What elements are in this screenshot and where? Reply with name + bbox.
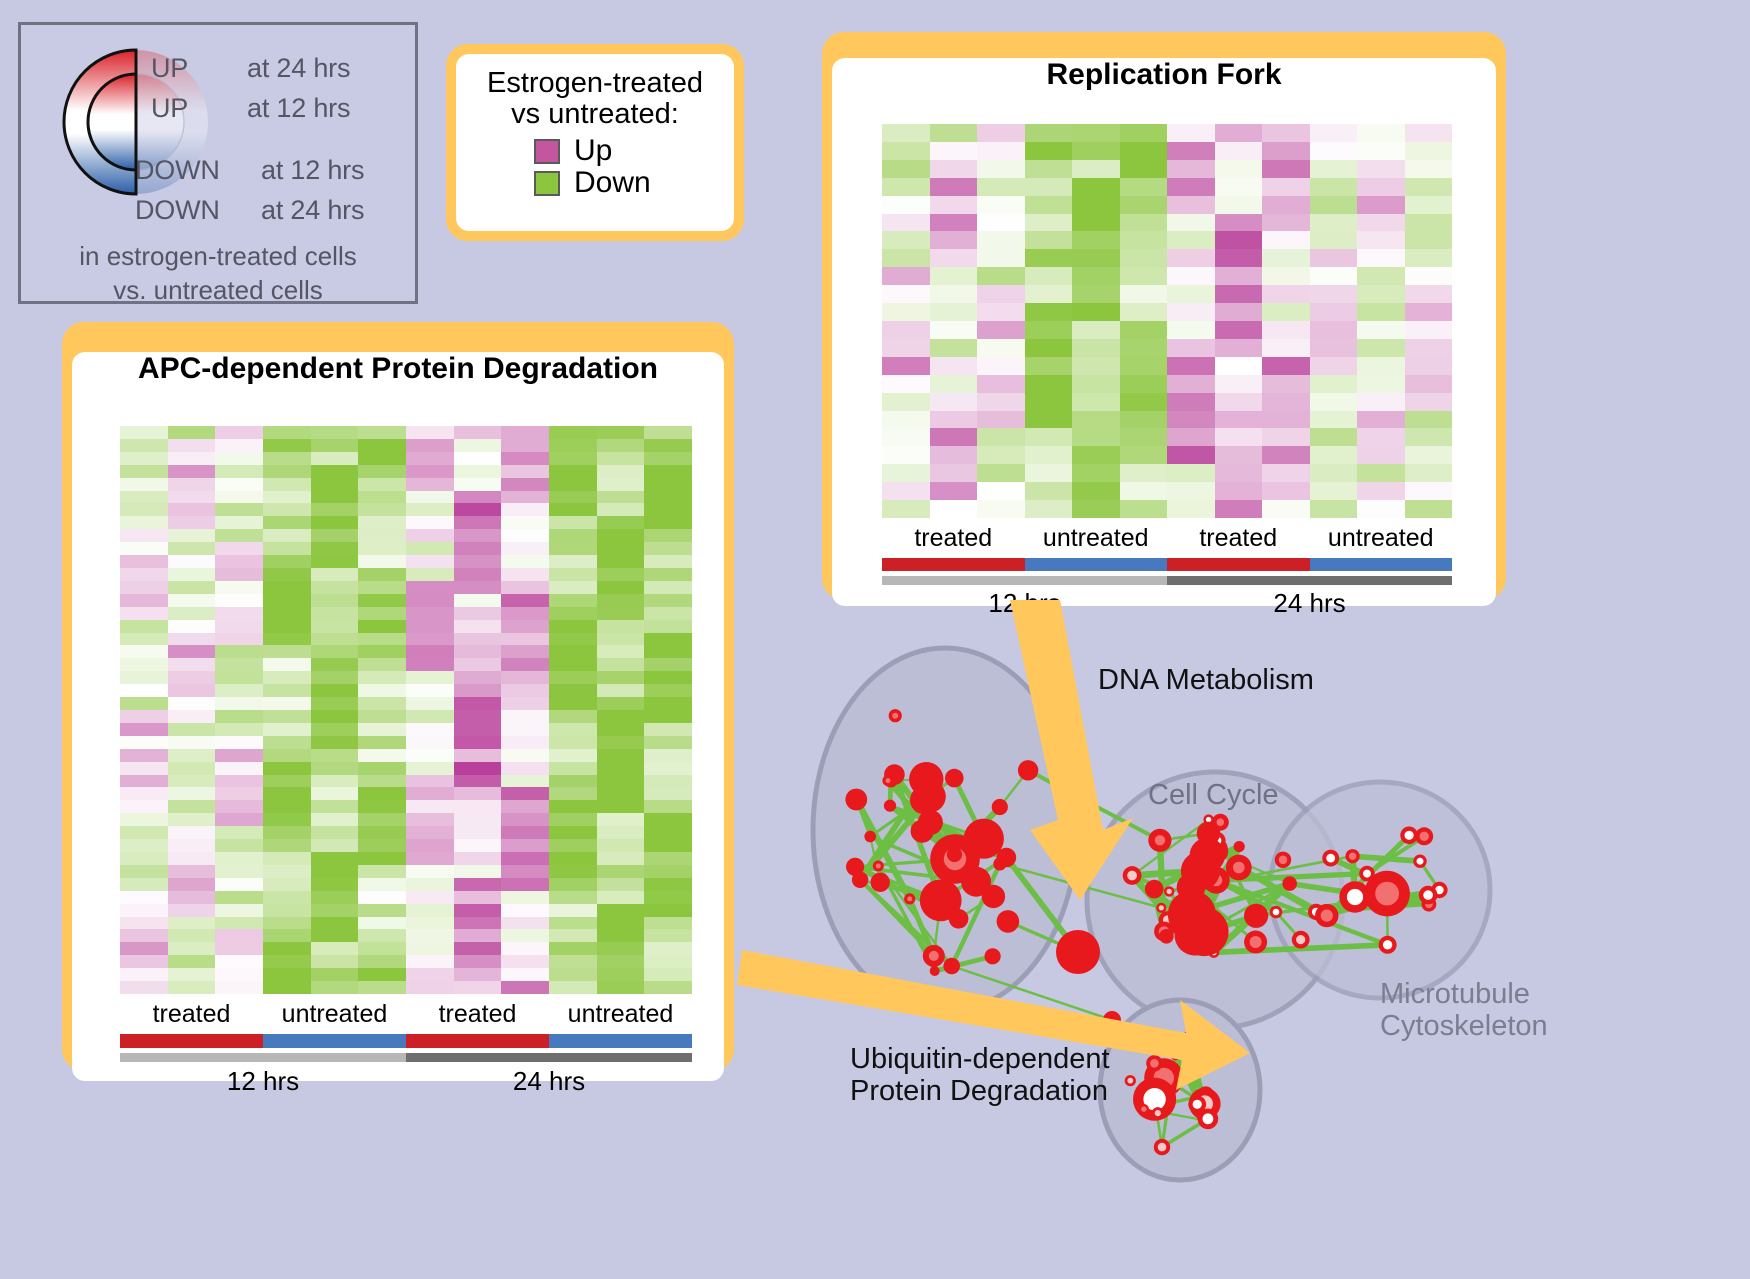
heat-cell	[549, 645, 597, 658]
heat-cell	[263, 775, 311, 788]
heat-cell	[549, 865, 597, 878]
heat-cell	[644, 775, 692, 788]
ub-line1: Ubiquitin-dependent	[850, 1043, 1110, 1075]
heat-cell	[311, 671, 359, 684]
key-row-2-time: at 12 hrs	[261, 155, 364, 186]
heat-cell	[263, 710, 311, 723]
heat-cell	[263, 968, 311, 981]
heat-cell	[930, 411, 978, 429]
heat-cell	[644, 542, 692, 555]
heat-cell	[549, 723, 597, 736]
heat-cell	[215, 439, 263, 452]
heat-cell	[406, 955, 454, 968]
heat-cell	[406, 904, 454, 917]
heat-cell	[644, 968, 692, 981]
heat-cell	[501, 607, 549, 620]
heat-cell	[120, 955, 168, 968]
heat-cell	[501, 723, 549, 736]
heat-cell	[406, 736, 454, 749]
heat-cell	[263, 684, 311, 697]
heat-cell	[1262, 464, 1310, 482]
heat-cell	[597, 542, 645, 555]
heat-cell	[1025, 267, 1073, 285]
heat-cell	[644, 852, 692, 865]
heat-cell	[406, 503, 454, 516]
heat-cell	[406, 555, 454, 568]
heat-cell	[454, 775, 502, 788]
heat-cell	[168, 826, 216, 839]
heat-cell	[311, 439, 359, 452]
heat-cell	[120, 633, 168, 646]
heat-cell	[644, 684, 692, 697]
heat-cell	[549, 516, 597, 529]
heat-cell	[1072, 249, 1120, 267]
heat-cell	[215, 917, 263, 930]
heat-cell	[501, 904, 549, 917]
heat-cell	[215, 826, 263, 839]
heat-cell	[1357, 142, 1405, 160]
heat-cell	[311, 491, 359, 504]
apc-col-0: treated	[120, 1000, 263, 1029]
heat-cell	[358, 800, 406, 813]
heat-cell	[1310, 178, 1358, 196]
heat-cell	[406, 568, 454, 581]
heat-cell	[597, 852, 645, 865]
apc-timebar-12	[120, 1053, 406, 1062]
heat-cell	[597, 800, 645, 813]
heat-cell	[1215, 428, 1263, 446]
heat-cell	[1405, 321, 1453, 339]
heat-cell	[168, 645, 216, 658]
apc-title: APC-dependent Protein Degradation	[72, 352, 724, 386]
heat-cell	[358, 865, 406, 878]
heat-cell	[263, 878, 311, 891]
heat-cell	[1025, 464, 1073, 482]
legend-title-line1: Estrogen-treated	[456, 68, 734, 99]
rf-column-labels: treated untreated treated untreated	[882, 524, 1452, 553]
key-row-0-value: UP	[151, 53, 188, 84]
heat-cell	[311, 775, 359, 788]
heat-cell	[644, 658, 692, 671]
heat-cell	[215, 658, 263, 671]
heat-cell	[549, 800, 597, 813]
heat-cell	[263, 516, 311, 529]
heat-cell	[977, 393, 1025, 411]
heat-cell	[1167, 375, 1215, 393]
heat-cell	[215, 503, 263, 516]
heat-cell	[1072, 285, 1120, 303]
heat-cell	[215, 426, 263, 439]
heat-cell	[1072, 196, 1120, 214]
heat-cell	[1120, 393, 1168, 411]
heat-cell	[358, 710, 406, 723]
heat-cell	[454, 968, 502, 981]
heat-cell	[1405, 231, 1453, 249]
heat-cell	[977, 375, 1025, 393]
mt-line2: Cytoskeleton	[1380, 1010, 1548, 1042]
heat-cell	[644, 426, 692, 439]
heat-cell	[501, 516, 549, 529]
heat-cell	[1357, 249, 1405, 267]
heat-cell	[597, 697, 645, 710]
heat-cell	[1167, 464, 1215, 482]
heat-cell	[168, 891, 216, 904]
key-row-3-value: DOWN	[135, 195, 220, 226]
apc-panel: APC-dependent Protein Degradation treate…	[62, 322, 734, 1071]
heat-cell	[263, 452, 311, 465]
heat-cell	[358, 568, 406, 581]
heat-cell	[644, 955, 692, 968]
heat-cell	[1167, 160, 1215, 178]
heat-cell	[1262, 393, 1310, 411]
heat-cell	[120, 762, 168, 775]
heat-cell	[358, 503, 406, 516]
heat-cell	[501, 555, 549, 568]
heat-cell	[549, 465, 597, 478]
heat-cell	[120, 439, 168, 452]
heat-cell	[882, 231, 930, 249]
rf-group-bar	[882, 558, 1452, 571]
heat-cell	[1072, 482, 1120, 500]
heat-cell	[120, 981, 168, 994]
heat-cell	[454, 568, 502, 581]
heat-cell	[549, 826, 597, 839]
heat-cell	[501, 633, 549, 646]
heat-cell	[930, 214, 978, 232]
heat-cell	[644, 516, 692, 529]
heat-cell	[1357, 375, 1405, 393]
heat-cell	[1215, 231, 1263, 249]
heat-cell	[1215, 285, 1263, 303]
heat-cell	[1310, 231, 1358, 249]
apc-bar-untreated-12	[263, 1034, 406, 1048]
heat-cell	[1072, 500, 1120, 518]
heat-cell	[263, 981, 311, 994]
heat-cell	[977, 303, 1025, 321]
heat-cell	[1215, 142, 1263, 160]
heat-cell	[311, 555, 359, 568]
heat-cell	[597, 929, 645, 942]
heat-cell	[406, 852, 454, 865]
heat-cell	[930, 196, 978, 214]
heat-cell	[215, 581, 263, 594]
heat-cell	[454, 955, 502, 968]
heat-cell	[1120, 196, 1168, 214]
heat-cell	[263, 852, 311, 865]
heat-cell	[1310, 285, 1358, 303]
heat-cell	[406, 620, 454, 633]
heat-cell	[168, 787, 216, 800]
heat-cell	[1025, 321, 1073, 339]
key-row-0-time: at 24 hrs	[247, 53, 350, 84]
heat-cell	[644, 633, 692, 646]
heat-cell	[215, 813, 263, 826]
heat-cell	[549, 581, 597, 594]
heat-cell	[406, 981, 454, 994]
heat-cell	[1310, 393, 1358, 411]
heat-cell	[120, 826, 168, 839]
cluster-label-dna-metabolism: DNA Metabolism	[1098, 664, 1314, 696]
heat-cell	[1405, 411, 1453, 429]
heat-cell	[1025, 142, 1073, 160]
heat-cell	[454, 439, 502, 452]
heat-cell	[454, 904, 502, 917]
heat-cell	[311, 942, 359, 955]
heat-cell	[406, 929, 454, 942]
heat-cell	[358, 555, 406, 568]
heat-cell	[882, 196, 930, 214]
heat-cell	[1215, 303, 1263, 321]
heat-cell	[1167, 303, 1215, 321]
heat-cell	[597, 917, 645, 930]
heat-cell	[597, 749, 645, 762]
heat-cell	[977, 231, 1025, 249]
heat-cell	[120, 620, 168, 633]
apc-heatmap	[120, 426, 692, 994]
heat-cell	[644, 697, 692, 710]
heat-cell	[1357, 160, 1405, 178]
heat-cell	[501, 865, 549, 878]
heat-cell	[501, 491, 549, 504]
heat-cell	[215, 516, 263, 529]
heat-cell	[501, 439, 549, 452]
heat-cell	[549, 478, 597, 491]
heat-cell	[930, 178, 978, 196]
heat-cell	[549, 529, 597, 542]
heat-cell	[1167, 500, 1215, 518]
heat-cell	[454, 749, 502, 762]
heat-cell	[1167, 357, 1215, 375]
heat-cell	[1262, 321, 1310, 339]
heat-cell	[358, 981, 406, 994]
heat-cell	[454, 503, 502, 516]
heat-cell	[1405, 178, 1453, 196]
heat-cell	[263, 865, 311, 878]
heat-cell	[977, 428, 1025, 446]
heat-cell	[454, 671, 502, 684]
heat-cell	[597, 787, 645, 800]
heat-cell	[215, 607, 263, 620]
heat-cell	[263, 633, 311, 646]
heat-cell	[120, 555, 168, 568]
heat-cell	[1357, 393, 1405, 411]
heat-cell	[406, 529, 454, 542]
heat-cell	[120, 684, 168, 697]
heat-cell	[1357, 196, 1405, 214]
heat-cell	[501, 568, 549, 581]
heat-cell	[549, 426, 597, 439]
heat-cell	[1167, 196, 1215, 214]
heat-cell	[1120, 285, 1168, 303]
heat-cell	[311, 929, 359, 942]
heat-cell	[168, 839, 216, 852]
heat-cell	[168, 710, 216, 723]
heat-cell	[406, 607, 454, 620]
heat-cell	[1167, 249, 1215, 267]
heat-cell	[454, 697, 502, 710]
heat-cell	[311, 865, 359, 878]
heat-cell	[977, 214, 1025, 232]
heat-cell	[358, 942, 406, 955]
heat-cell	[1310, 142, 1358, 160]
heat-cell	[1262, 303, 1310, 321]
heat-cell	[501, 452, 549, 465]
heat-cell	[644, 439, 692, 452]
heat-cell	[597, 594, 645, 607]
heat-cell	[1310, 124, 1358, 142]
heat-cell	[120, 813, 168, 826]
heat-cell	[215, 775, 263, 788]
heat-cell	[168, 452, 216, 465]
heat-cell	[358, 542, 406, 555]
heat-cell	[406, 723, 454, 736]
heat-cell	[168, 542, 216, 555]
rf-timebar-24	[1167, 576, 1452, 585]
heat-cell	[977, 196, 1025, 214]
heat-cell	[311, 813, 359, 826]
heat-cell	[882, 160, 930, 178]
up-swatch-icon	[534, 139, 560, 164]
heat-cell	[454, 633, 502, 646]
heat-cell	[311, 852, 359, 865]
heat-cell	[597, 865, 645, 878]
heat-cell	[406, 581, 454, 594]
down-swatch-icon	[534, 171, 560, 196]
heat-cell	[168, 478, 216, 491]
heat-cell	[168, 800, 216, 813]
heat-cell	[597, 736, 645, 749]
heat-cell	[644, 981, 692, 994]
heat-cell	[454, 710, 502, 723]
heat-cell	[358, 878, 406, 891]
heat-cell	[1167, 393, 1215, 411]
heat-cell	[1072, 124, 1120, 142]
heat-cell	[1310, 464, 1358, 482]
heat-cell	[406, 813, 454, 826]
heat-cell	[215, 633, 263, 646]
heat-cell	[311, 904, 359, 917]
heat-cell	[1262, 357, 1310, 375]
heat-cell	[263, 697, 311, 710]
heat-cell	[597, 516, 645, 529]
heat-cell	[549, 736, 597, 749]
heat-cell	[597, 942, 645, 955]
heat-cell	[597, 981, 645, 994]
heat-cell	[549, 684, 597, 697]
heat-cell	[1215, 411, 1263, 429]
heat-cell	[358, 762, 406, 775]
heat-cell	[1072, 393, 1120, 411]
heat-cell	[215, 568, 263, 581]
heat-cell	[168, 697, 216, 710]
heat-cell	[358, 516, 406, 529]
heat-cell	[549, 503, 597, 516]
heat-cell	[168, 904, 216, 917]
heat-cell	[1310, 214, 1358, 232]
heat-cell	[311, 697, 359, 710]
heat-cell	[311, 710, 359, 723]
heat-cell	[644, 491, 692, 504]
heat-cell	[406, 942, 454, 955]
heat-cell	[1167, 411, 1215, 429]
legend-item-up: Up	[534, 136, 734, 166]
heat-cell	[977, 357, 1025, 375]
heat-cell	[454, 787, 502, 800]
heat-cell	[1215, 482, 1263, 500]
heat-cell	[215, 671, 263, 684]
heat-cell	[263, 929, 311, 942]
heat-cell	[597, 878, 645, 891]
heat-cell	[263, 723, 311, 736]
heat-cell	[1262, 446, 1310, 464]
heat-cell	[1405, 500, 1453, 518]
heat-cell	[597, 968, 645, 981]
heat-cell	[1215, 267, 1263, 285]
heat-cell	[215, 981, 263, 994]
heat-cell	[215, 800, 263, 813]
heat-cell	[358, 607, 406, 620]
heat-cell	[1357, 285, 1405, 303]
heat-cell	[882, 214, 930, 232]
heat-cell	[215, 749, 263, 762]
heat-cell	[1025, 196, 1073, 214]
heat-cell	[120, 839, 168, 852]
heat-cell	[882, 303, 930, 321]
replication-fork-panel: Replication Fork treated untreated treat…	[822, 32, 1506, 600]
heat-cell	[358, 839, 406, 852]
heat-cell	[1025, 482, 1073, 500]
heat-cell	[882, 375, 930, 393]
heat-cell	[644, 529, 692, 542]
heat-cell	[977, 267, 1025, 285]
legend-up-label: Up	[574, 136, 612, 166]
heat-cell	[454, 800, 502, 813]
heat-cell	[501, 671, 549, 684]
pathway-network-diagram	[760, 600, 1560, 1260]
heat-cell	[406, 878, 454, 891]
heat-cell	[1310, 160, 1358, 178]
heat-cell	[1357, 500, 1405, 518]
heat-cell	[882, 321, 930, 339]
heat-cell	[215, 955, 263, 968]
heat-cell	[311, 581, 359, 594]
heat-cell	[454, 594, 502, 607]
heat-cell	[311, 478, 359, 491]
heat-cell	[1025, 214, 1073, 232]
apc-group-bar	[120, 1034, 692, 1048]
rf-timebar-12	[882, 576, 1167, 585]
heat-cell	[549, 762, 597, 775]
heat-cell	[644, 800, 692, 813]
heat-cell	[1357, 357, 1405, 375]
heat-cell	[882, 339, 930, 357]
heat-cell	[120, 465, 168, 478]
apc-column-labels: treated untreated treated untreated	[120, 1000, 692, 1029]
heat-cell	[1167, 231, 1215, 249]
heat-cell	[406, 968, 454, 981]
replication-fork-heatmap	[882, 124, 1452, 518]
heat-cell	[358, 452, 406, 465]
heat-cell	[930, 446, 978, 464]
heat-cell	[215, 929, 263, 942]
rf-col-1: untreated	[1025, 524, 1168, 553]
heat-cell	[120, 891, 168, 904]
apc-col-2: treated	[406, 1000, 549, 1029]
heat-cell	[977, 249, 1025, 267]
heat-cell	[168, 942, 216, 955]
heat-cell	[358, 645, 406, 658]
heat-cell	[120, 491, 168, 504]
